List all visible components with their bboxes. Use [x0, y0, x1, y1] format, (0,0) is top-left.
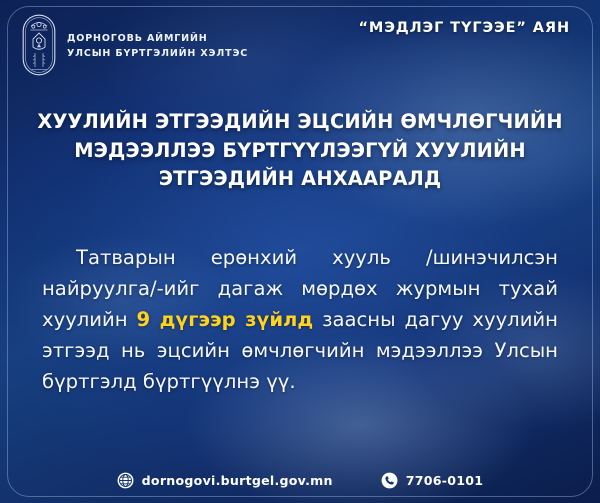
website-label: dornogovi.burtgel.gov.mn [142, 473, 333, 488]
phone-icon [381, 472, 398, 489]
body-text-highlight: 9 дүгээр зүйлд [136, 308, 313, 331]
globe-icon [117, 472, 134, 489]
poster-heading: ХУУЛИЙН ЭТГЭЭДИЙН ЭЦСИЙН ӨМЧЛӨГЧИЙН МЭДЭ… [36, 108, 564, 194]
organization-line-2: УЛСЫН БҮРТГЭЛИЙН ХЭЛТЭС [67, 48, 248, 60]
heading-line-2: МЭДЭЭЛЛЭЭ БҮРТГҮҮЛЭЭГҮЙ ХУУЛИЙН [36, 137, 564, 166]
poster-header: ДОРНОГОВЬ АЙМГИЙН УЛСЫН БҮРТГЭЛИЙН ХЭЛТЭ… [0, 0, 600, 88]
phone-label: 7706-0101 [406, 473, 484, 488]
campaign-title: “МЭДЛЭГ ТҮГЭЭЕ” АЯН [358, 20, 570, 36]
organization-brand: ДОРНОГОВЬ АЙМГИЙН УЛСЫН БҮРТГЭЛИЙН ХЭЛТЭ… [22, 14, 248, 76]
organization-name: ДОРНОГОВЬ АЙМГИЙН УЛСЫН БҮРТГЭЛИЙН ХЭЛТЭ… [67, 31, 248, 60]
poster-body-text: Татварын ерөнхий хууль /шинэчилсэн найру… [42, 243, 558, 398]
heading-line-1: ХУУЛИЙН ЭТГЭЭДИЙН ЭЦСИЙН ӨМЧЛӨГЧИЙН [36, 108, 564, 137]
phone-contact[interactable]: 7706-0101 [381, 472, 484, 489]
heading-line-3: ЭТГЭЭДИЙН АНХААРАЛД [36, 165, 564, 194]
poster-footer: dornogovi.burtgel.gov.mn 7706-0101 [0, 472, 600, 489]
website-contact[interactable]: dornogovi.burtgel.gov.mn [117, 472, 333, 489]
organization-line-1: ДОРНОГОВЬ АЙМГИЙН [67, 33, 248, 45]
mongolian-soyombo-emblem-icon [22, 14, 56, 76]
poster-canvas: ДОРНОГОВЬ АЙМГИЙН УЛСЫН БҮРТГЭЛИЙН ХЭЛТЭ… [0, 0, 600, 503]
